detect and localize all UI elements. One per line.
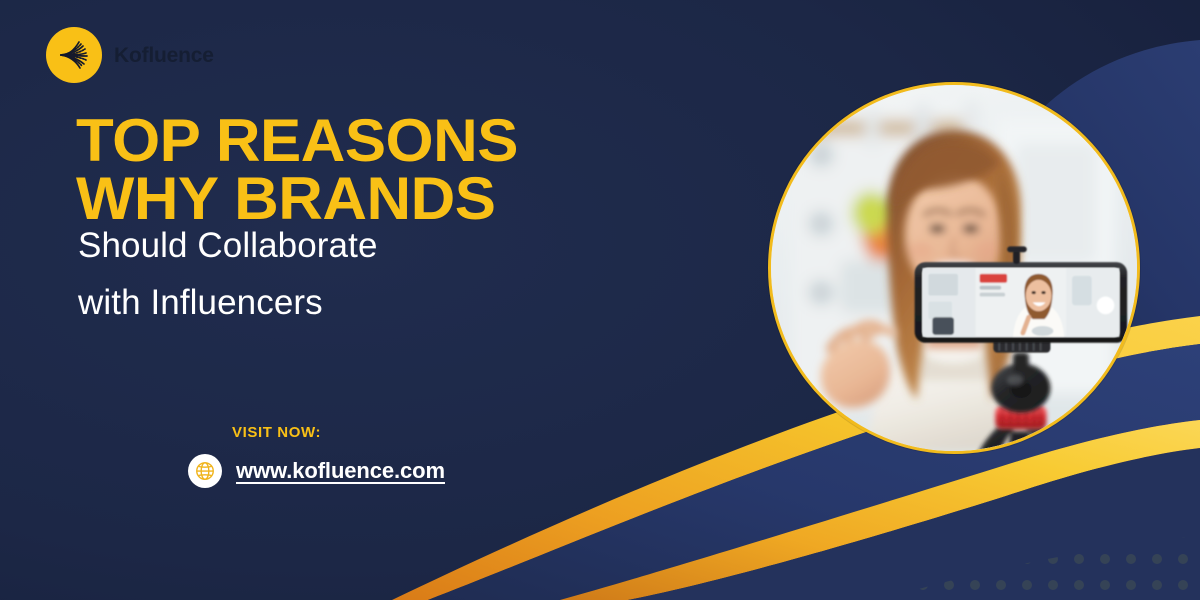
brand-wordmark: Kofluence <box>114 45 214 66</box>
kofluence-promo-banner: Kofluence TOP REASONS WHY BRANDS Should … <box>0 0 1200 600</box>
subheadline-line-1: Should Collaborate <box>78 228 378 263</box>
kofluence-wing-icon <box>46 27 102 83</box>
cta-link-row[interactable]: www.kofluence.com <box>188 454 445 488</box>
brand-logo[interactable]: Kofluence <box>46 27 214 83</box>
headline-line-2: WHY BRANDS <box>76 170 518 228</box>
visit-now-cta: VISIT NOW: www.kofluence.com <box>188 424 445 488</box>
hero-photo <box>771 85 1137 451</box>
page-subtitle: Should Collaborate with Influencers <box>78 228 378 320</box>
page-title: TOP REASONS WHY BRANDS <box>76 112 505 228</box>
influencer-photo-illustration <box>771 85 1137 451</box>
subheadline-line-2: with Influencers <box>78 285 378 320</box>
globe-icon <box>188 454 222 488</box>
website-url-link[interactable]: www.kofluence.com <box>236 458 445 484</box>
hero-photo-circle <box>768 82 1140 454</box>
headline-line-1: TOP REASONS <box>76 112 518 170</box>
cta-kicker-label: VISIT NOW: <box>232 424 445 441</box>
